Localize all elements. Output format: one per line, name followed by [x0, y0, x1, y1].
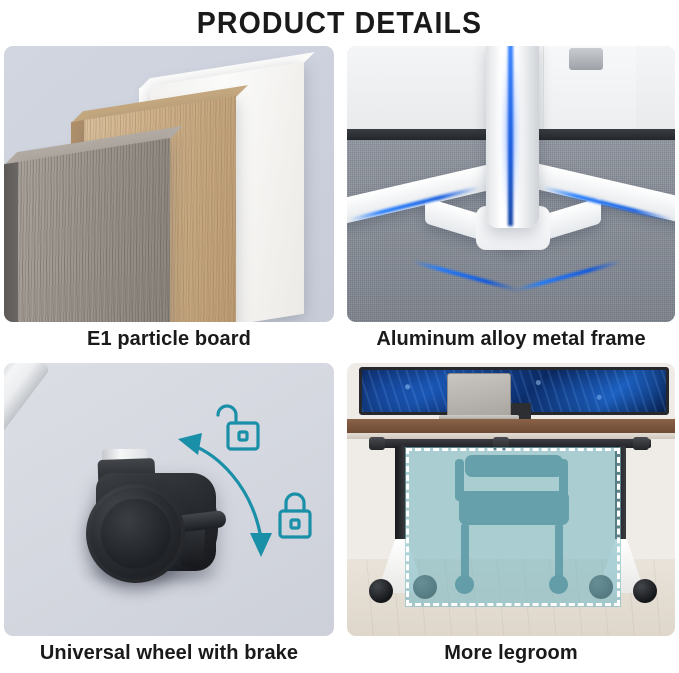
caption-universal-wheel-with-brake: Universal wheel with brake: [4, 642, 334, 665]
closed-padlock-icon: [280, 494, 310, 537]
desk-top: [347, 419, 675, 433]
legroom-photo: [347, 363, 675, 636]
clamp-bracket: [569, 48, 603, 70]
open-padlock-icon: [218, 406, 258, 449]
panel-grid: E1 particle board: [0, 46, 679, 673]
panel-universal-wheel-with-brake: Universal wheel with brake: [4, 363, 334, 636]
caster-wheel-photo: [4, 363, 334, 636]
caption-aluminum-alloy-metal-frame: Aluminum alloy metal frame: [347, 328, 675, 351]
panel-e1-particle-board: E1 particle board: [4, 46, 334, 322]
caption-e1-particle-board: E1 particle board: [4, 328, 334, 351]
lock-annotation: [172, 393, 330, 583]
crossbar-knob-right: [633, 437, 649, 450]
gray-board-face: [18, 138, 170, 322]
particle-board-photo: [4, 46, 334, 322]
gray-board-side-edge: [4, 162, 18, 322]
caption-more-legroom: More legroom: [347, 642, 675, 665]
desk-leg-tube: [4, 363, 50, 521]
column-glow-line: [508, 46, 513, 226]
panel-more-legroom: More legroom: [347, 363, 675, 636]
page-title: PRODUCT DETAILS: [27, 0, 652, 46]
desk-caster-front-right: [633, 579, 657, 603]
product-details-infographic: PRODUCT DETAILS: [0, 0, 679, 673]
legroom-highlight-area: [405, 447, 621, 607]
crossbar-knob-left: [369, 437, 385, 450]
metal-frame-photo: [347, 46, 675, 322]
desk-caster-front-left: [369, 579, 393, 603]
gray-board: [18, 138, 170, 322]
panel-aluminum-alloy-metal-frame: Aluminum alloy metal frame: [347, 46, 675, 322]
caster-wheel-hub: [100, 497, 172, 569]
laptop: [447, 373, 511, 419]
